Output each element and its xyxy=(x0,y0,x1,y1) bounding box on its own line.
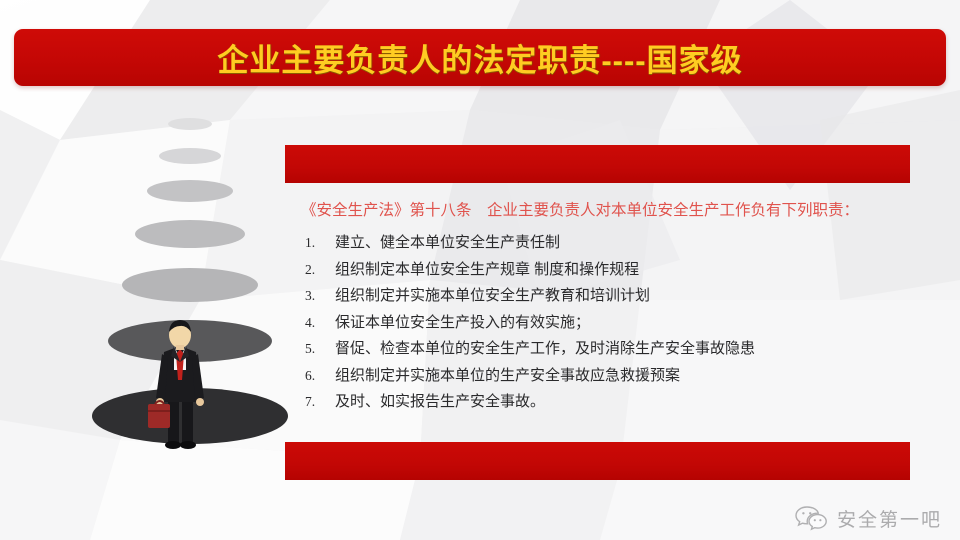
law-citation-intro: 《安全生产法》第十八条 企业主要负责人对本单位安全生产工作负有下列职责： xyxy=(301,197,894,224)
watermark: 安全第一吧 xyxy=(795,504,942,532)
list-item: 组织制定并实施本单位的生产安全事故应急救援预案 xyxy=(301,363,894,390)
list-item: 及时、如实报告生产安全事故。 xyxy=(301,389,894,416)
duties-list: 建立、健全本单位安全生产责任制 组织制定本单位安全生产规章 制度和操作规程 组织… xyxy=(301,230,894,416)
presentation-slide: 企业主要负责人的法定职责----国家级 xyxy=(0,0,960,540)
slide-title-banner: 企业主要负责人的法定职责----国家级 xyxy=(14,29,946,86)
list-item: 组织制定并实施本单位安全生产教育和培训计划 xyxy=(301,283,894,310)
platform-ellipse xyxy=(168,118,212,130)
businessman-illustration xyxy=(140,318,220,453)
content-panel: 《安全生产法》第十八条 企业主要负责人对本单位安全生产工作负有下列职责： 建立、… xyxy=(285,145,910,480)
panel-bottom-accent-bar xyxy=(285,442,910,480)
panel-body: 《安全生产法》第十八条 企业主要负责人对本单位安全生产工作负有下列职责： 建立、… xyxy=(285,183,910,442)
page-title: 企业主要负责人的法定职责----国家级 xyxy=(217,35,742,80)
list-item: 组织制定本单位安全生产规章 制度和操作规程 xyxy=(301,257,894,284)
watermark-label: 安全第一吧 xyxy=(837,505,942,532)
platform-ellipse xyxy=(122,268,258,302)
panel-top-accent-bar xyxy=(285,145,910,183)
platform-ellipse xyxy=(147,180,233,202)
list-item: 督促、检查本单位的安全生产工作，及时消除生产安全事故隐患 xyxy=(301,336,894,363)
platform-ellipse xyxy=(135,220,245,248)
platform-ellipse xyxy=(159,148,221,164)
list-item: 保证本单位安全生产投入的有效实施； xyxy=(301,310,894,337)
wechat-icon xyxy=(795,504,829,532)
list-item: 建立、健全本单位安全生产责任制 xyxy=(301,230,894,257)
